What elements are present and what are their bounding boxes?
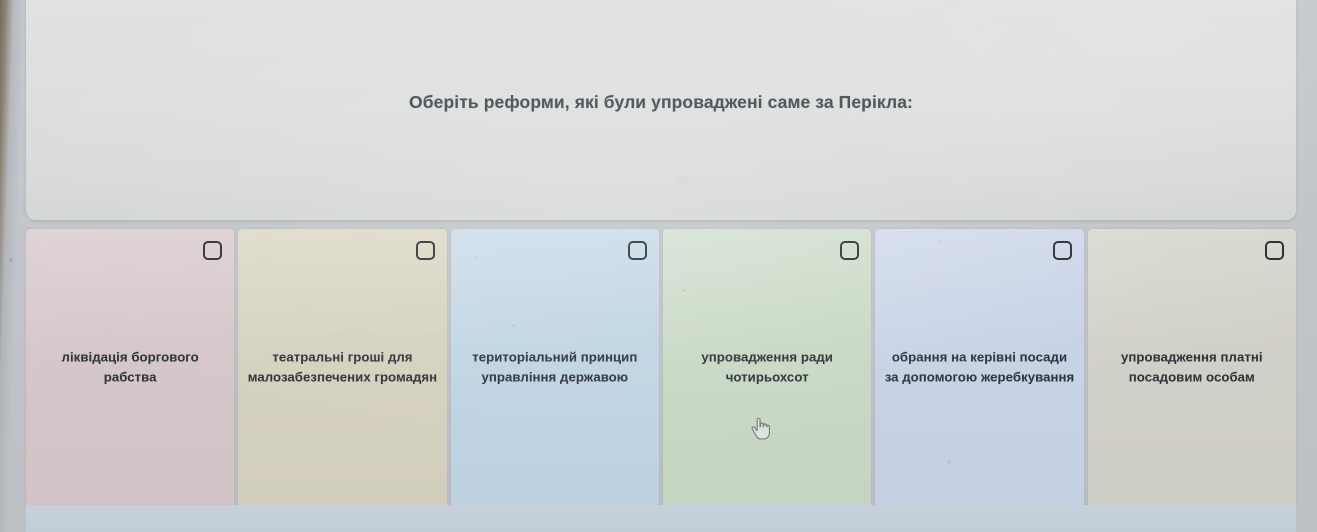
question-panel: Оберіть реформи, які були упроваджені са…	[26, 0, 1296, 220]
option-label: упровадження платні посадовим особам	[1096, 348, 1288, 389]
option-label: театральні гроші для малозабезпечених гр…	[246, 348, 438, 389]
dust-speck	[682, 289, 686, 292]
bottom-strip	[26, 505, 1296, 532]
dust-speck	[9, 258, 13, 262]
dust-speck	[947, 460, 951, 464]
option-card-3[interactable]: територіальний принцип управління держав…	[451, 229, 659, 509]
checkbox-unchecked-icon[interactable]	[1265, 241, 1284, 260]
dust-speck	[676, 177, 690, 184]
option-card-6[interactable]: упровадження платні посадовим особам	[1088, 229, 1296, 509]
option-label: обрання на керівні посади за допомогою ж…	[883, 348, 1075, 389]
option-card-1[interactable]: ліквідація боргового рабства	[26, 229, 234, 509]
checkbox-unchecked-icon[interactable]	[840, 241, 859, 260]
pointing-hand-cursor	[750, 418, 770, 440]
option-label: упровадження ради чотирьохсот	[671, 348, 863, 389]
question-text: Оберіть реформи, які були упроваджені са…	[26, 92, 1296, 113]
option-label: територіальний принцип управління держав…	[459, 348, 651, 389]
options-row: ліквідація боргового рабства театральні …	[26, 229, 1296, 509]
option-card-4[interactable]: упровадження ради чотирьохсот	[663, 229, 871, 509]
dust-speck	[474, 256, 477, 259]
dust-speck	[938, 240, 942, 243]
option-card-2[interactable]: театральні гроші для малозабезпечених гр…	[238, 229, 446, 509]
dust-speck	[512, 324, 515, 327]
option-card-5[interactable]: обрання на керівні посади за допомогою ж…	[875, 229, 1083, 509]
checkbox-unchecked-icon[interactable]	[1053, 241, 1072, 260]
screen-photo: Оберіть реформи, які були упроваджені са…	[0, 0, 1317, 532]
checkbox-unchecked-icon[interactable]	[628, 241, 647, 260]
checkbox-unchecked-icon[interactable]	[203, 241, 222, 260]
checkbox-unchecked-icon[interactable]	[416, 241, 435, 260]
option-label: ліквідація боргового рабства	[34, 348, 226, 389]
